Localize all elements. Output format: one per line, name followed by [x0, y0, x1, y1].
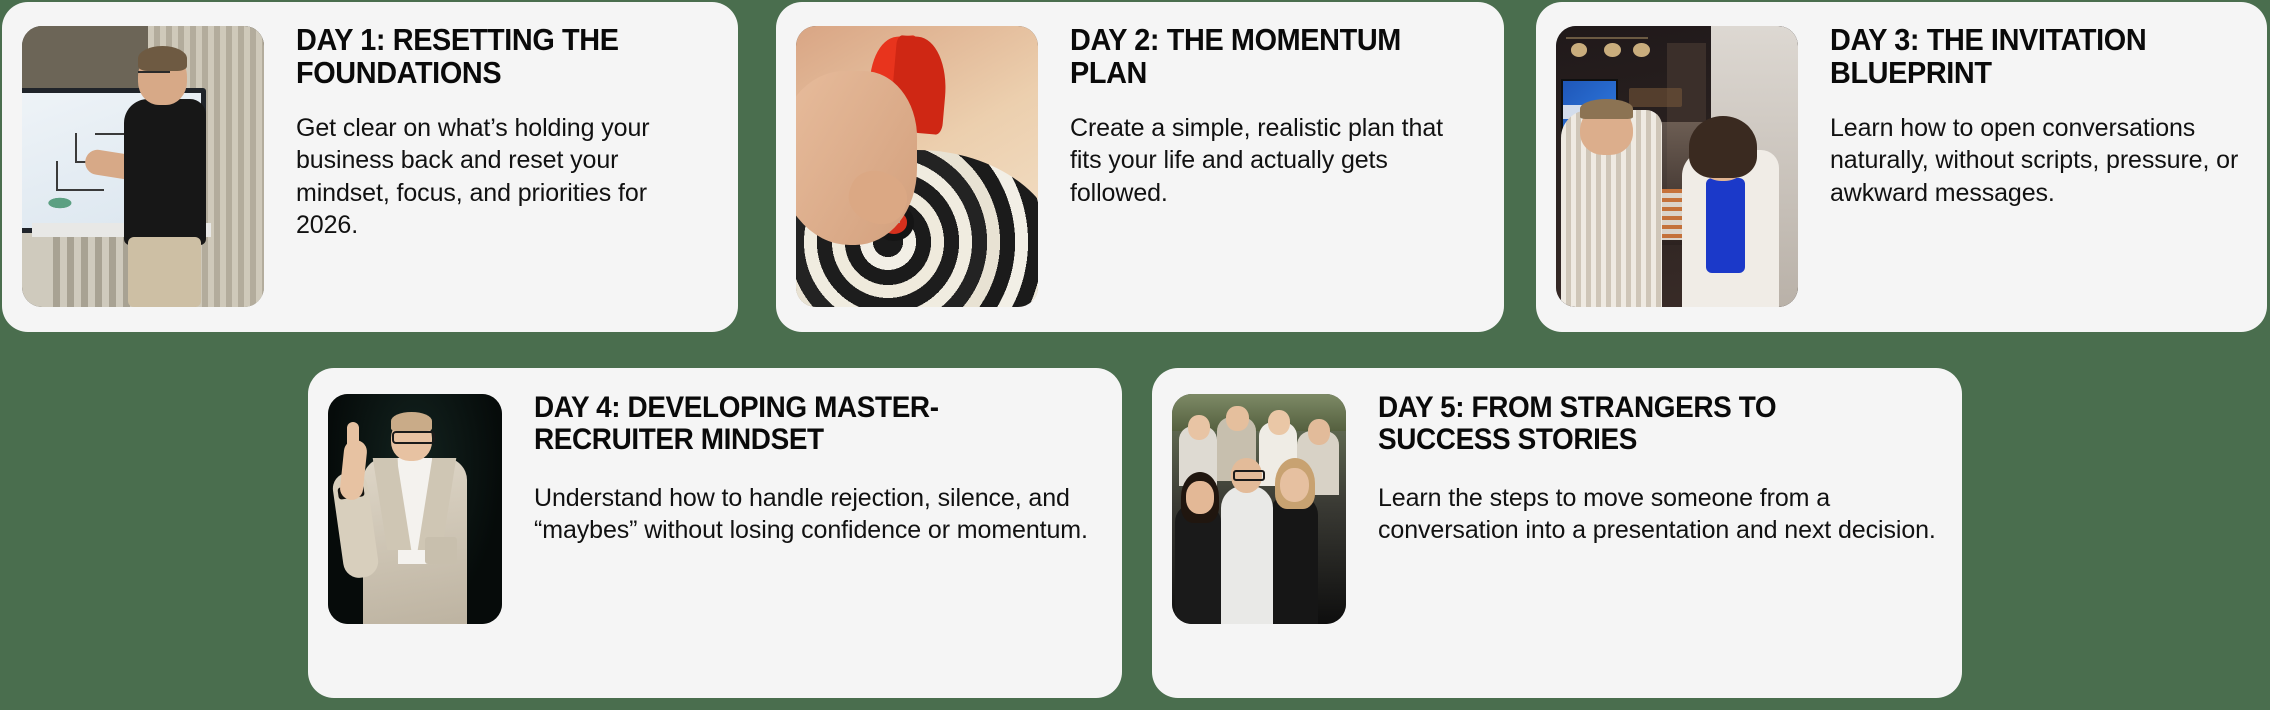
day-5-thumbnail: [1172, 394, 1346, 624]
day-2-description: Create a simple, realistic plan that fit…: [1070, 112, 1478, 210]
day-4-thumbnail: [328, 394, 502, 624]
day-2-title: DAY 2: THE MOMENTUM PLAN: [1070, 24, 1449, 90]
day-5-title: DAY 5: FROM STRANGERS TO SUCCESS STORIES: [1378, 392, 1897, 456]
curriculum-card-grid: DAY 1: RESETTING THE FOUNDATIONS Get cle…: [0, 0, 2270, 710]
day-card-5[interactable]: DAY 5: FROM STRANGERS TO SUCCESS STORIES…: [1152, 368, 1962, 698]
day-4-title: DAY 4: DEVELOPING MASTER-RECRUITER MINDS…: [534, 392, 1057, 456]
day-card-4[interactable]: DAY 4: DEVELOPING MASTER-RECRUITER MINDS…: [308, 368, 1122, 698]
day-3-description: Learn how to open conversations naturall…: [1830, 112, 2241, 210]
day-1-title: DAY 1: RESETTING THE FOUNDATIONS: [296, 24, 683, 90]
day-1-body: DAY 1: RESETTING THE FOUNDATIONS Get cle…: [264, 2, 738, 242]
day-1-description: Get clear on what’s holding your busines…: [296, 112, 712, 242]
day-2-thumbnail: [796, 26, 1038, 307]
day-card-2[interactable]: DAY 2: THE MOMENTUM PLAN Create a simple…: [776, 2, 1504, 332]
day-3-body: DAY 3: THE INVITATION BLUEPRINT Learn ho…: [1798, 2, 2267, 209]
day-card-1[interactable]: DAY 1: RESETTING THE FOUNDATIONS Get cle…: [2, 2, 738, 332]
day-5-body: DAY 5: FROM STRANGERS TO SUCCESS STORIES…: [1346, 368, 1962, 547]
day-1-thumbnail: [22, 26, 264, 307]
day-3-thumbnail: [1556, 26, 1798, 307]
day-5-description: Learn the steps to move someone from a c…: [1378, 482, 1936, 547]
day-card-3[interactable]: DAY 3: THE INVITATION BLUEPRINT Learn ho…: [1536, 2, 2267, 332]
day-4-description: Understand how to handle rejection, sile…: [534, 482, 1096, 547]
day-3-title: DAY 3: THE INVITATION BLUEPRINT: [1830, 24, 2212, 90]
day-2-body: DAY 2: THE MOMENTUM PLAN Create a simple…: [1038, 2, 1504, 209]
day-4-body: DAY 4: DEVELOPING MASTER-RECRUITER MINDS…: [502, 368, 1122, 547]
